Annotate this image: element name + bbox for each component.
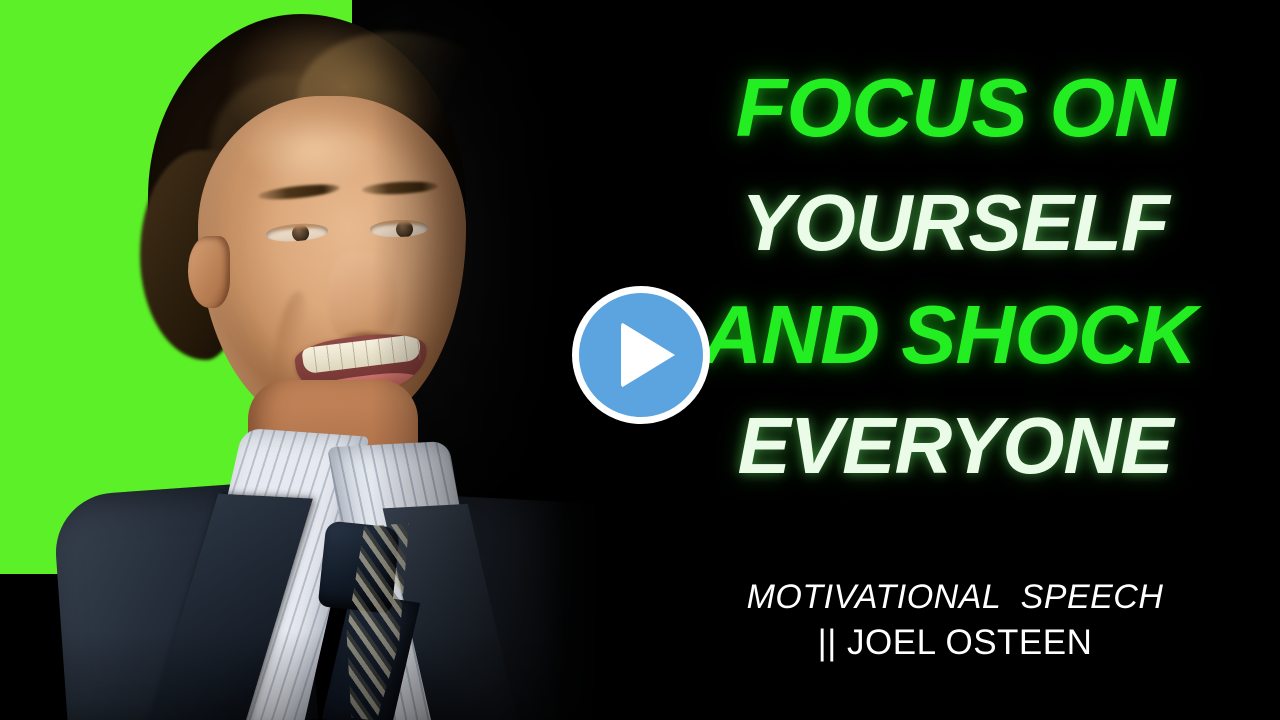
ear (188, 236, 230, 308)
subtitle-speaker-name: || JOEL OSTEEN (690, 623, 1220, 663)
headline-line-1: FOCUS ON (685, 66, 1226, 149)
subject-photo (0, 0, 600, 720)
headline-line-4: EVERYONE (690, 406, 1220, 486)
headline-line-3: AND SHOCK (684, 293, 1214, 376)
subtitle-block: MOTIVATIONAL SPEECH || JOEL OSTEEN (690, 578, 1220, 663)
subject-figure (90, 0, 590, 720)
play-triangle-icon (621, 322, 675, 388)
video-thumbnail: FOCUS ON YOURSELF AND SHOCK EVERYONE MOT… (0, 0, 1280, 720)
play-button[interactable] (572, 286, 710, 424)
headline-line-2: YOURSELF (690, 183, 1220, 263)
subtitle-speech-type: MOTIVATIONAL SPEECH (690, 578, 1220, 617)
forehead-highlight (240, 110, 380, 188)
headline-block: FOCUS ON YOURSELF AND SHOCK EVERYONE (690, 40, 1220, 486)
